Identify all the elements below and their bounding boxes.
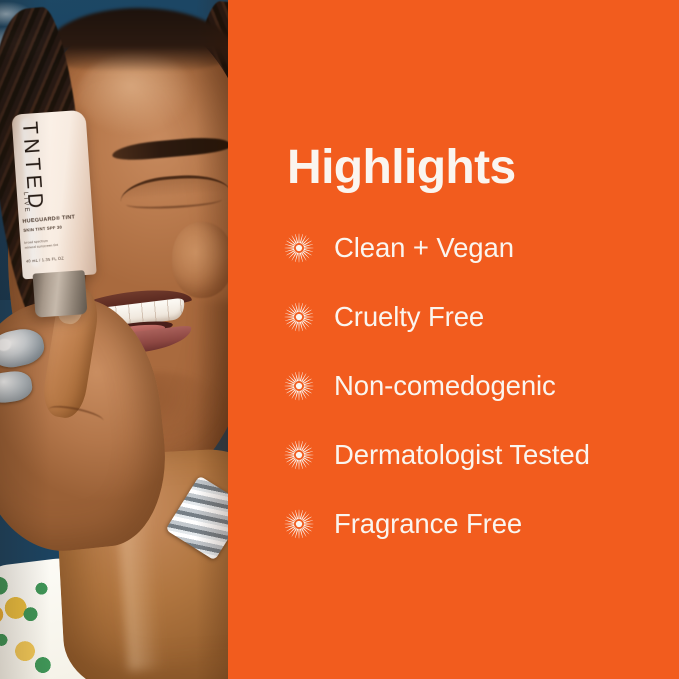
highlight-row: Fragrance Free	[284, 502, 644, 546]
highlight-row: Non-comedogenic	[284, 364, 644, 408]
highlight-label: Fragrance Free	[334, 508, 522, 540]
sunburst-icon	[284, 371, 314, 401]
sunburst-icon	[284, 440, 314, 470]
tube-cap	[33, 270, 88, 318]
highlights-panel: Highlights Clean + VeganCruelty FreeNon-…	[228, 0, 679, 679]
highlight-label: Non-comedogenic	[334, 370, 556, 402]
product-lifestyle-photo: TNTED LIVE HUEGUARD® TINT SKIN TINT SPF …	[0, 0, 228, 679]
highlight-row: Dermatologist Tested	[284, 433, 644, 477]
highlight-label: Dermatologist Tested	[334, 439, 590, 471]
highlight-label: Cruelty Free	[334, 301, 484, 333]
highlights-list: Clean + VeganCruelty FreeNon-comedogenic…	[284, 226, 644, 571]
tube-fine-print: HUEGUARD® TINT SKIN TINT SPF 30 broad sp…	[22, 213, 92, 263]
sunburst-icon	[284, 233, 314, 263]
page-title: Highlights	[287, 140, 516, 196]
sunburst-icon	[284, 509, 314, 539]
product-tube: TNTED LIVE HUEGUARD® TINT SKIN TINT SPF …	[11, 110, 98, 307]
highlight-row: Clean + Vegan	[284, 226, 644, 270]
highlight-row: Cruelty Free	[284, 295, 644, 339]
highlight-label: Clean + Vegan	[334, 232, 514, 264]
sunburst-icon	[284, 302, 314, 332]
product-highlights-card: TNTED LIVE HUEGUARD® TINT SKIN TINT SPF …	[0, 0, 679, 679]
